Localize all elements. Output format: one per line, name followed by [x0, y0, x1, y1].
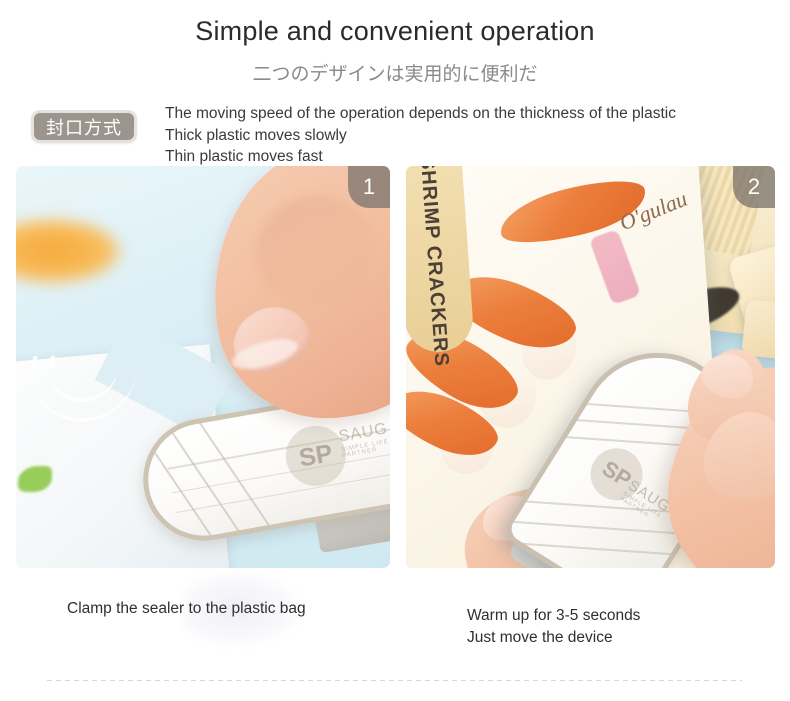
step-number-badge-1: 1	[348, 166, 390, 208]
step-2-photo: SHRIMP CRACKERS O'gulau SAUGSIMPLE LIFE …	[406, 166, 775, 568]
step-2-caption-line-2: Just move the device	[467, 627, 640, 649]
bottom-divider	[47, 680, 742, 681]
step-2-caption-line-1: Warm up for 3-5 seconds	[467, 605, 640, 627]
section-badge: 封口方式	[31, 110, 137, 143]
step-1-caption-line-1: Clamp the sealer to the plastic bag	[67, 598, 306, 620]
description-block: The moving speed of the operation depend…	[165, 103, 775, 168]
step-number-badge-2: 2	[733, 166, 775, 208]
description-line-3: Thin plastic moves fast	[165, 146, 775, 168]
device-brand-text: SAUGSIMPLE LIFE PARTNER	[337, 414, 390, 459]
description-line-1: The moving speed of the operation depend…	[165, 103, 775, 125]
page-subtitle: 二つのデザインは実用的に便利だ	[0, 59, 790, 86]
product-infographic-page: Simple and convenient operation 二つのデザインは…	[0, 0, 790, 701]
page-title: Simple and convenient operation	[0, 16, 790, 47]
step-2-caption: Warm up for 3-5 seconds Just move the de…	[467, 605, 640, 649]
step-1-photo: SAUGSIMPLE LIFE PARTNER 1	[16, 166, 390, 568]
step-1-caption: Clamp the sealer to the plastic bag	[67, 598, 306, 620]
description-line-2: Thick plastic moves slowly	[165, 125, 775, 147]
package-label-text: SHRIMP CRACKERS	[415, 166, 453, 367]
